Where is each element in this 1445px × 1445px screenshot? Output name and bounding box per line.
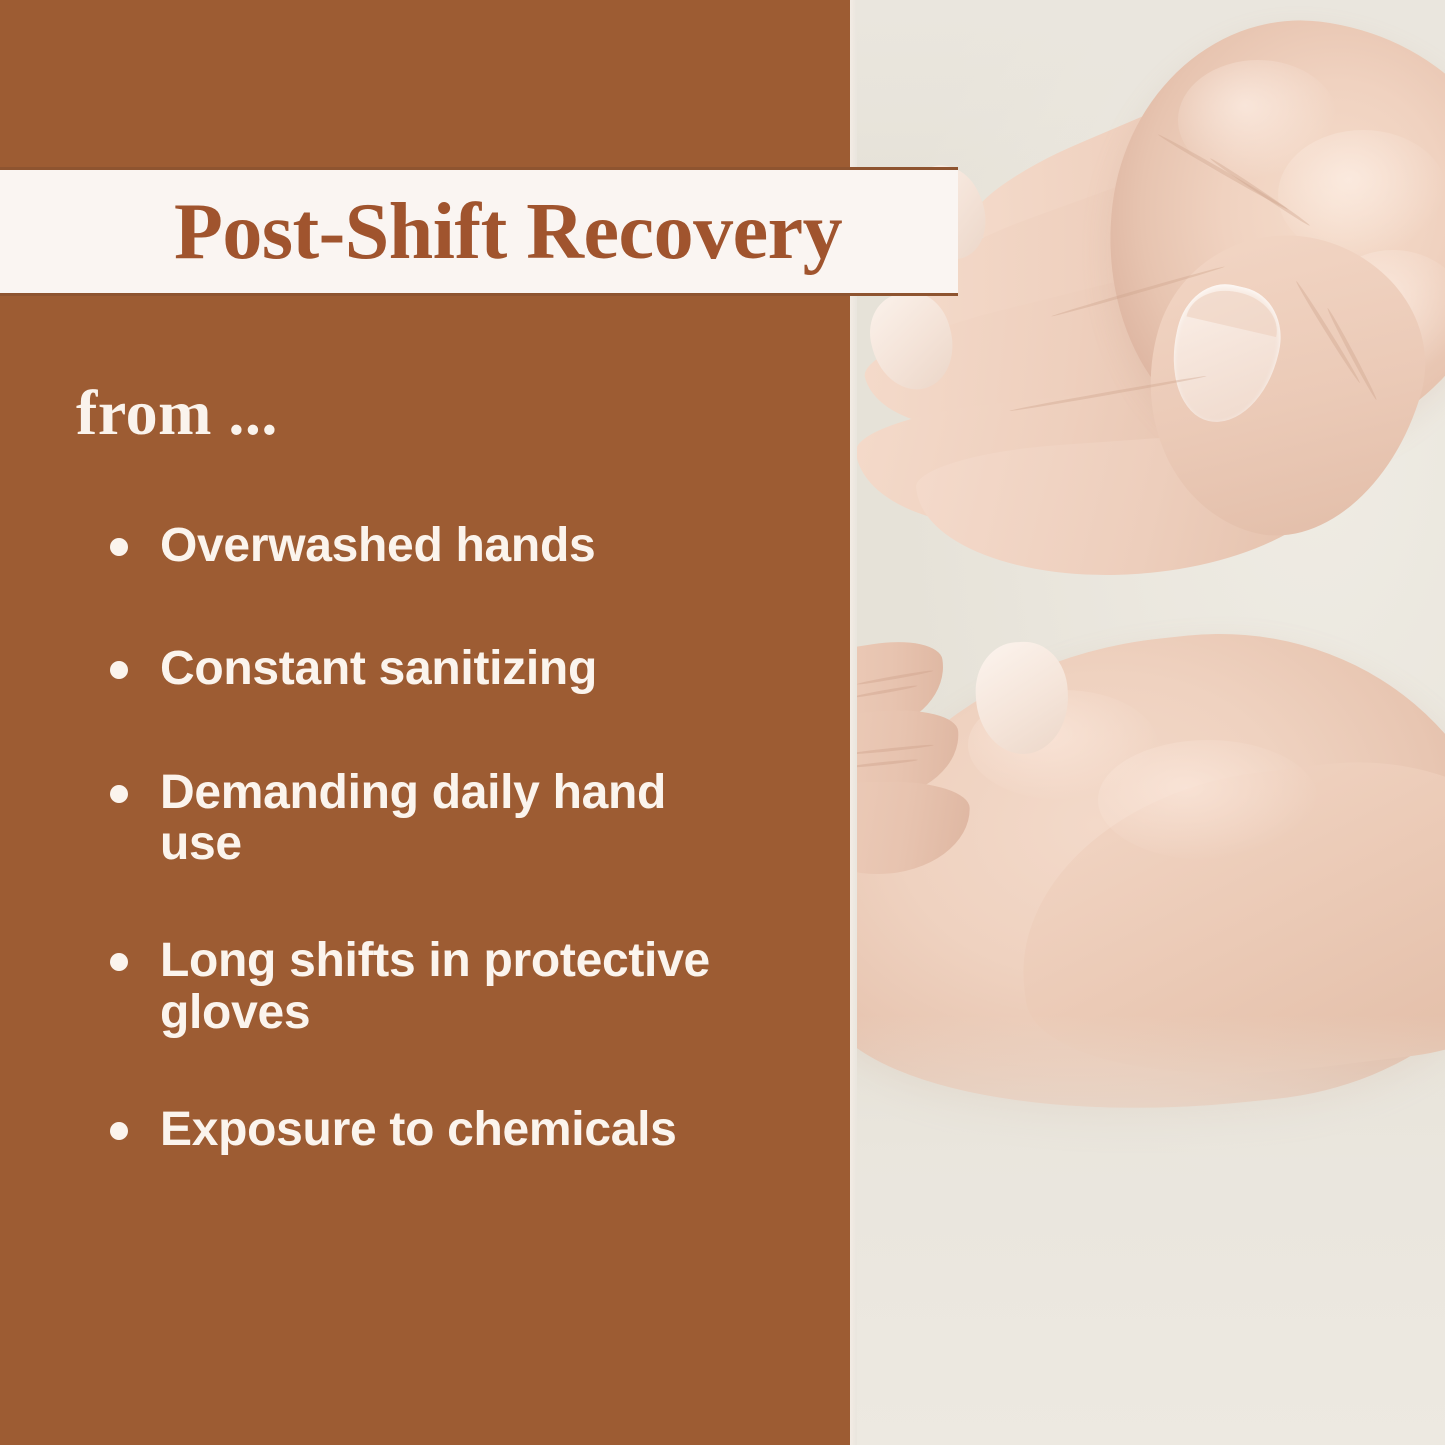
- bullet-dot-icon: [110, 661, 128, 679]
- infographic-canvas: from ... Overwashed hands Constant sanit…: [0, 0, 1445, 1445]
- pain-point-label: Long shifts in protective gloves: [160, 934, 710, 1038]
- from-label: from ...: [76, 378, 278, 448]
- lower-hand-knuckle-highlight: [1098, 740, 1318, 860]
- bullet-dot-icon: [110, 953, 128, 971]
- bullet-dot-icon: [110, 1122, 128, 1140]
- bullet-dot-icon: [110, 785, 128, 803]
- list-item: Demanding daily hand use: [98, 767, 758, 870]
- pain-points-list: Overwashed hands Constant sanitizing Dem…: [98, 520, 758, 1156]
- page-title: Post-Shift Recovery: [174, 192, 842, 272]
- title-band: Post-Shift Recovery: [0, 167, 958, 296]
- bullet-dot-icon: [110, 538, 128, 556]
- pain-point-label: Exposure to chemicals: [160, 1103, 677, 1156]
- photo-bottom-fade: [848, 1015, 1445, 1445]
- pain-point-label: Demanding daily hand use: [160, 766, 666, 870]
- pain-point-label: Overwashed hands: [160, 519, 595, 572]
- list-item: Overwashed hands: [98, 520, 758, 571]
- list-item: Exposure to chemicals: [98, 1104, 758, 1155]
- list-item: Constant sanitizing: [98, 643, 758, 694]
- list-item: Long shifts in protective gloves: [98, 935, 758, 1038]
- pain-point-label: Constant sanitizing: [160, 642, 597, 695]
